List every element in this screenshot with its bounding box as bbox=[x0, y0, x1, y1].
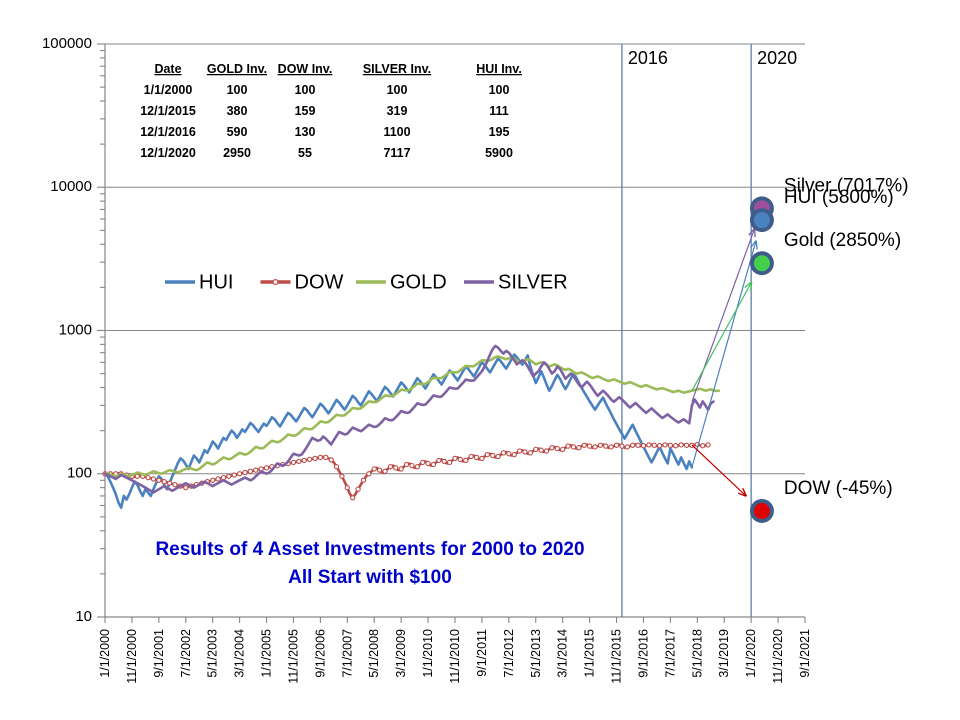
table-cell-r2-c3: 1100 bbox=[383, 125, 410, 139]
legend-marker-dow bbox=[273, 280, 278, 285]
table-cell-r3-c2: 55 bbox=[298, 146, 312, 160]
table-cell-r3-c4: 5900 bbox=[485, 146, 513, 160]
endpoint-label-hui: HUI (5800%) bbox=[784, 187, 894, 208]
y-tick-label: 1000 bbox=[59, 321, 92, 338]
x-tick-label: 5/1/2008 bbox=[367, 629, 381, 678]
x-tick-label: 7/1/2002 bbox=[179, 629, 193, 678]
x-tick-label: 1/1/2005 bbox=[260, 629, 274, 678]
table-cell-r1-c0: 12/1/2015 bbox=[140, 104, 196, 118]
endpoint-dot-hui bbox=[754, 212, 770, 228]
x-tick-label: 5/1/2018 bbox=[690, 629, 704, 678]
legend-label-gold: GOLD bbox=[390, 271, 447, 293]
x-tick-label: 3/1/2014 bbox=[556, 629, 570, 678]
x-tick-label: 3/1/2019 bbox=[717, 629, 731, 678]
table-header-3: SILVER Inv. bbox=[363, 62, 431, 76]
y-tick-label: 10 bbox=[75, 608, 92, 625]
y-tick-label: 100 bbox=[67, 465, 92, 482]
investment-growth-chart: 101001000100001000001/1/200011/1/20009/1… bbox=[0, 0, 960, 720]
y-tick-label: 100000 bbox=[42, 35, 92, 52]
year-marker-label: 2016 bbox=[628, 48, 668, 68]
table-cell-r1-c2: 159 bbox=[295, 104, 316, 118]
table-header-2: DOW Inv. bbox=[278, 62, 333, 76]
x-tick-label: 11/1/2000 bbox=[125, 629, 139, 684]
projection-arrow-dow bbox=[692, 445, 746, 496]
legend-label-dow: DOW bbox=[295, 271, 344, 293]
endpoint-dot-dow bbox=[754, 503, 770, 519]
x-tick-label: 9/1/2021 bbox=[798, 629, 812, 678]
x-tick-label: 5/1/2013 bbox=[529, 629, 543, 678]
table-header-0: Date bbox=[154, 62, 181, 76]
x-tick-label: 1/1/2020 bbox=[744, 629, 758, 678]
legend-label-silver: SILVER bbox=[498, 271, 568, 293]
endpoint-dot-gold bbox=[754, 255, 770, 271]
table-cell-r0-c0: 1/1/2000 bbox=[144, 83, 193, 97]
x-tick-label: 9/1/2006 bbox=[313, 629, 327, 678]
x-tick-label: 3/1/2004 bbox=[233, 629, 247, 678]
y-tick-label: 10000 bbox=[50, 178, 92, 195]
x-tick-label: 1/1/2015 bbox=[583, 629, 597, 678]
year-marker-label: 2020 bbox=[757, 48, 797, 68]
legend-label-hui: HUI bbox=[199, 271, 233, 293]
table-cell-r2-c2: 130 bbox=[295, 125, 316, 139]
x-tick-label: 11/1/2015 bbox=[610, 629, 624, 684]
x-tick-label: 7/1/2017 bbox=[663, 629, 677, 678]
projection-arrow-gold bbox=[692, 282, 751, 390]
table-cell-r2-c4: 195 bbox=[489, 125, 510, 139]
chart-title-line-1: Results of 4 Asset Investments for 2000 … bbox=[155, 539, 584, 560]
projection-arrow-hui bbox=[692, 241, 756, 467]
projection-arrow-silver bbox=[692, 229, 755, 401]
series-markers-dow bbox=[103, 442, 710, 499]
x-tick-label: 9/1/2001 bbox=[152, 629, 166, 678]
table-cell-r0-c4: 100 bbox=[489, 83, 510, 97]
table-header-4: HUI Inv. bbox=[476, 62, 522, 76]
table-cell-r3-c0: 12/1/2020 bbox=[140, 146, 196, 160]
x-tick-label: 11/1/2005 bbox=[286, 629, 300, 684]
table-cell-r0-c3: 100 bbox=[387, 83, 408, 97]
chart-title-line-2: All Start with $100 bbox=[288, 567, 452, 588]
table-header-1: GOLD Inv. bbox=[207, 62, 267, 76]
table-cell-r1-c4: 111 bbox=[489, 104, 509, 118]
endpoint-label-dow: DOW (-45%) bbox=[784, 478, 893, 499]
x-tick-label: 1/1/2010 bbox=[421, 629, 435, 678]
table-cell-r0-c1: 100 bbox=[227, 83, 248, 97]
table-cell-r3-c3: 7117 bbox=[383, 146, 410, 160]
x-tick-label: 5/1/2003 bbox=[206, 629, 220, 678]
table-cell-r2-c0: 12/1/2016 bbox=[140, 125, 196, 139]
table-cell-r2-c1: 590 bbox=[227, 125, 248, 139]
x-tick-label: 1/1/2000 bbox=[98, 629, 112, 678]
x-tick-label: 7/1/2007 bbox=[340, 629, 354, 678]
table-cell-r1-c1: 380 bbox=[227, 104, 248, 118]
chart-canvas: 101001000100001000001/1/200011/1/20009/1… bbox=[0, 0, 960, 720]
endpoint-label-gold: Gold (2850%) bbox=[784, 230, 901, 251]
table-cell-r3-c1: 2950 bbox=[223, 146, 251, 160]
x-tick-label: 7/1/2012 bbox=[502, 629, 516, 678]
x-tick-label: 9/1/2011 bbox=[475, 629, 489, 677]
x-tick-label: 9/1/2016 bbox=[636, 629, 650, 678]
table-cell-r0-c2: 100 bbox=[295, 83, 316, 97]
x-tick-label: 3/1/2009 bbox=[394, 629, 408, 678]
x-tick-label: 11/1/2020 bbox=[771, 629, 785, 684]
table-cell-r1-c3: 319 bbox=[387, 104, 408, 118]
x-tick-label: 11/1/2010 bbox=[448, 629, 462, 684]
